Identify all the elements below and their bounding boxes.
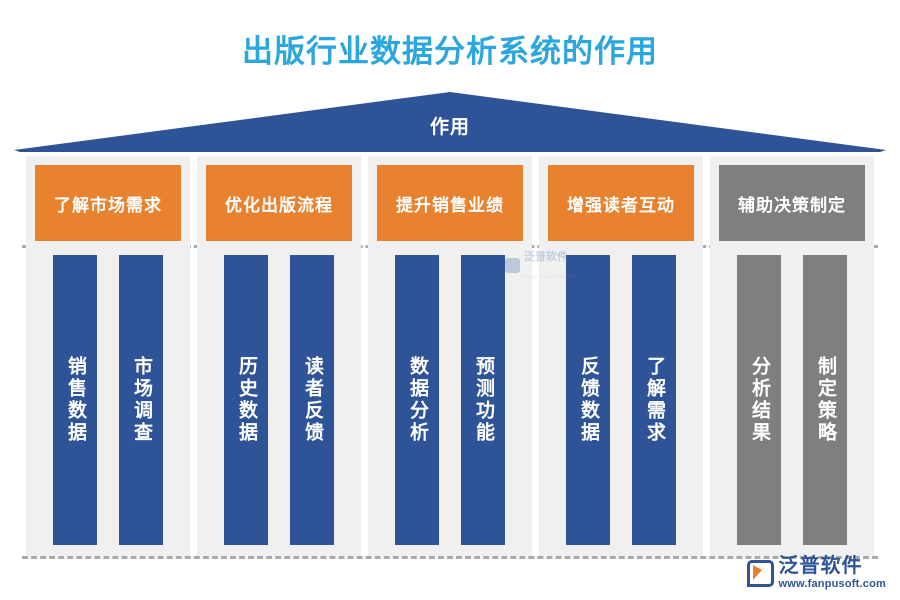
- group-header-1[interactable]: 了解市场需求: [35, 165, 181, 241]
- pillar-group-4[interactable]: 增强读者互动 反馈数据 了解需求: [539, 156, 703, 556]
- roof-triangle: [0, 88, 900, 154]
- pillar-bar-5-2[interactable]: 制定策略: [803, 255, 847, 545]
- pillar-bar-label: 销售数据: [65, 356, 85, 444]
- fanpu-logo-icon: [747, 560, 774, 587]
- pillar-bar-label: 分析结果: [749, 356, 769, 444]
- pillar-bar-label: 历史数据: [236, 356, 256, 444]
- pillar-bar-label: 读者反馈: [302, 356, 322, 444]
- pillar-bar-3-1[interactable]: 数据分析: [395, 255, 439, 545]
- pillar-bar-2-1[interactable]: 历史数据: [224, 255, 268, 545]
- group-bars-1: 销售数据 市场调查: [26, 255, 190, 556]
- pillar-bar-label: 市场调查: [131, 356, 151, 444]
- pillar-bar-label: 数据分析: [407, 356, 427, 444]
- group-header-3[interactable]: 提升销售业绩: [377, 165, 523, 241]
- pillar-bar-1-1[interactable]: 销售数据: [53, 255, 97, 545]
- pillar-bar-label: 制定策略: [815, 356, 835, 444]
- group-header-4[interactable]: 增强读者互动: [548, 165, 694, 241]
- logo-url: www.fanpusoft.com: [779, 579, 887, 590]
- pillar-bar-5-1[interactable]: 分析结果: [737, 255, 781, 545]
- pillar-bar-4-1[interactable]: 反馈数据: [566, 255, 610, 545]
- group-bars-3: 数据分析 预测功能: [368, 255, 532, 556]
- pillar-group-5[interactable]: 辅助决策制定 分析结果 制定策略: [710, 156, 874, 556]
- group-bars-5: 分析结果 制定策略: [710, 255, 874, 556]
- group-bars-2: 历史数据 读者反馈: [197, 255, 361, 556]
- pillar-bar-label: 了解需求: [644, 356, 664, 444]
- pillar-bar-4-2[interactable]: 了解需求: [632, 255, 676, 545]
- pillar-group-3[interactable]: 提升销售业绩 数据分析 预测功能: [368, 156, 532, 556]
- group-bars-4: 反馈数据 了解需求: [539, 255, 703, 556]
- logo-company-name: 泛普软件: [779, 556, 887, 576]
- pillar-bar-3-2[interactable]: 预测功能: [461, 255, 505, 545]
- pillar-bar-label: 预测功能: [473, 356, 493, 444]
- pillar-bar-2-2[interactable]: 读者反馈: [290, 255, 334, 545]
- group-header-5[interactable]: 辅助决策制定: [719, 165, 865, 241]
- pillar-bar-label: 反馈数据: [578, 356, 598, 444]
- group-header-2[interactable]: 优化出版流程: [206, 165, 352, 241]
- page-title: 出版行业数据分析系统的作用: [0, 30, 900, 74]
- pillar-groups: 了解市场需求 销售数据 市场调查 优化出版流程 历史数据 读者反馈 提升销售业绩…: [26, 156, 874, 556]
- pillar-group-1[interactable]: 了解市场需求 销售数据 市场调查: [26, 156, 190, 556]
- pillar-group-2[interactable]: 优化出版流程 历史数据 读者反馈: [197, 156, 361, 556]
- pillar-bar-1-2[interactable]: 市场调查: [119, 255, 163, 545]
- brand-logo: 泛普软件 www.fanpusoft.com: [747, 556, 887, 590]
